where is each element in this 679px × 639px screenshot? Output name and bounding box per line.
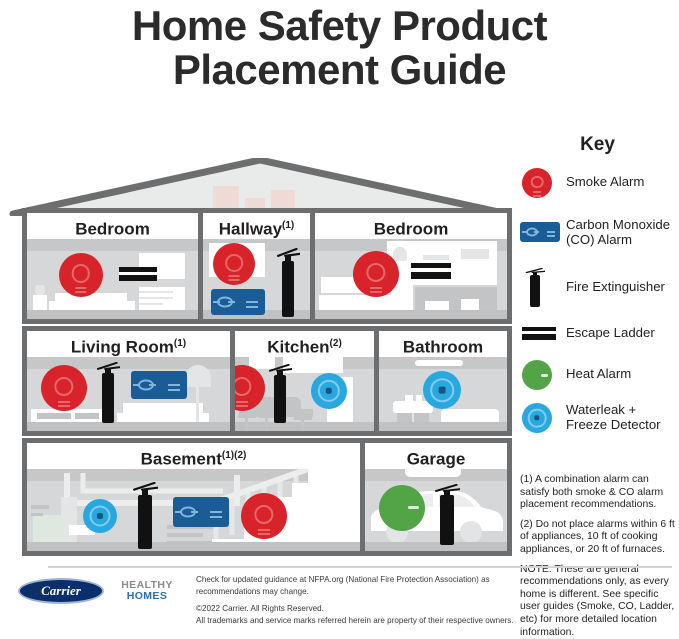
infographic-page: Home Safety Product Placement Guide Bedr…: [0, 0, 679, 627]
legend-label: Smoke Alarm: [566, 174, 644, 190]
mirror-light: [415, 360, 463, 366]
room-label: Hallway(1): [203, 213, 310, 239]
upper-floor: Bedroom: [22, 208, 512, 324]
smoke-alarm: [241, 493, 287, 539]
healthy-homes-logo: HEALTHY HOMES: [112, 580, 182, 602]
legend-label: Escape Ladder: [566, 325, 655, 341]
heat-alarm: [379, 485, 425, 531]
room-label: Bedroom: [315, 213, 507, 239]
garage-light: [405, 469, 461, 477]
room-bedroom-left: Bedroom: [27, 213, 203, 319]
house-diagram: Bedroom: [8, 158, 513, 568]
floor-lamp-shade: [185, 365, 211, 387]
legend-label: Waterleak + Freeze Detector: [566, 402, 675, 433]
legend-item-escape-ladder: Escape Ladder: [520, 317, 675, 349]
footer-line-2: ©2022 Carrier. All Rights Reserved.: [196, 603, 518, 615]
room-living-room: Living Room(1): [27, 331, 235, 431]
fire-extinguisher: [97, 361, 119, 423]
room-bathroom: Bathroom: [379, 331, 507, 431]
room-interior: [315, 239, 507, 319]
legend-label: Heat Alarm: [566, 366, 631, 382]
room-label: Bathroom: [379, 331, 507, 357]
room-basement: Basement(1)(2): [27, 443, 365, 551]
legend-item-heat-alarm: Heat Alarm: [520, 358, 675, 390]
footnote-note: NOTE: These are general recommendations …: [520, 564, 678, 639]
heat-alarm-icon: [520, 358, 566, 390]
fire-extinguisher: [277, 247, 299, 317]
legend-label: Carbon Monoxide (CO) Alarm: [566, 217, 675, 248]
fire-extinguisher: [435, 483, 459, 545]
room-label: Basement(1)(2): [27, 443, 360, 469]
footer-line-3: All trademarks and service marks referre…: [196, 615, 518, 627]
room-interior: [27, 239, 198, 319]
legend-item-co-alarm: Carbon Monoxide (CO) Alarm: [520, 207, 675, 257]
legend-item-smoke-alarm: Smoke Alarm: [520, 166, 675, 198]
room-hallway: Hallway(1): [203, 213, 315, 319]
faucet: [405, 395, 413, 403]
co-alarm: [211, 289, 265, 315]
lamp: [35, 285, 45, 295]
main-floor: Living Room(1): [22, 326, 512, 436]
co-alarm: [131, 371, 187, 399]
co-alarm-icon: [520, 220, 566, 244]
legend-item-fire-extinguisher: Fire Extinguisher: [520, 266, 675, 308]
footer: Carrier HEALTHY HOMES Check for updated …: [18, 574, 518, 626]
carrier-logo-text: Carrier: [20, 583, 102, 599]
room-label: Bedroom: [27, 213, 198, 239]
fire-extinguisher-icon: [520, 267, 566, 307]
footer-text: Check for updated guidance at NFPA.org (…: [196, 574, 518, 626]
legend-title: Key: [520, 134, 675, 156]
carrier-logo: Carrier: [18, 578, 104, 604]
waterleak-detector: [311, 373, 347, 409]
healthy-homes-line-2: HOMES: [112, 591, 182, 602]
legend-label: Fire Extinguisher: [566, 279, 665, 295]
title-line-1: Home Safety Product: [132, 2, 547, 49]
room-label: Kitchen(2): [235, 331, 374, 357]
room-label: Garage: [365, 443, 507, 469]
smoke-alarm: [213, 243, 255, 285]
books: [461, 249, 489, 259]
room-garage: Garage: [365, 443, 507, 551]
stool-leg: [245, 417, 248, 431]
smoke-alarm: [353, 251, 399, 297]
escape-ladder-icon: [520, 317, 566, 349]
room-interior: [203, 239, 310, 319]
room-interior: [27, 357, 230, 431]
smoke-alarm: [59, 253, 103, 297]
room-interior: [379, 357, 507, 431]
room-interior: [27, 469, 360, 551]
smoke-alarm-icon: [520, 166, 566, 198]
footnote-2: (2) Do not place alarms within 6 ft of a…: [520, 519, 678, 557]
room-interior: [235, 357, 374, 431]
escape-ladder: [411, 263, 451, 279]
room-bedroom-right: Bedroom: [315, 213, 507, 319]
fire-extinguisher: [133, 481, 157, 549]
footer-line-1: Check for updated guidance at NFPA.org (…: [196, 574, 518, 597]
legend-item-waterleak-detector: Waterleak + Freeze Detector: [520, 399, 675, 435]
decor-vase: [393, 247, 407, 261]
stool-leg: [265, 417, 268, 431]
legend: Key Smoke Alarm Carbon Monoxide (CO) Ala…: [520, 134, 675, 444]
page-title: Home Safety Product Placement Guide: [0, 4, 679, 92]
footer-divider: [48, 566, 672, 568]
escape-ladder: [119, 267, 157, 281]
room-kitchen: Kitchen(2): [235, 331, 379, 431]
room-interior: [365, 469, 507, 551]
waterleak-freeze-detector-icon: [520, 401, 566, 433]
footnotes: (1) A combination alarm can satisfy both…: [520, 474, 678, 639]
footnote-1: (1) A combination alarm can satisfy both…: [520, 474, 678, 512]
waterleak-detector: [83, 499, 117, 533]
fire-extinguisher: [269, 363, 291, 423]
waterleak-detector: [423, 371, 461, 409]
title-line-2: Placement Guide: [0, 48, 679, 92]
lower-floor: Basement(1)(2): [22, 438, 512, 556]
room-label: Living Room(1): [27, 331, 230, 357]
smoke-alarm: [41, 365, 87, 411]
co-alarm: [173, 497, 229, 527]
